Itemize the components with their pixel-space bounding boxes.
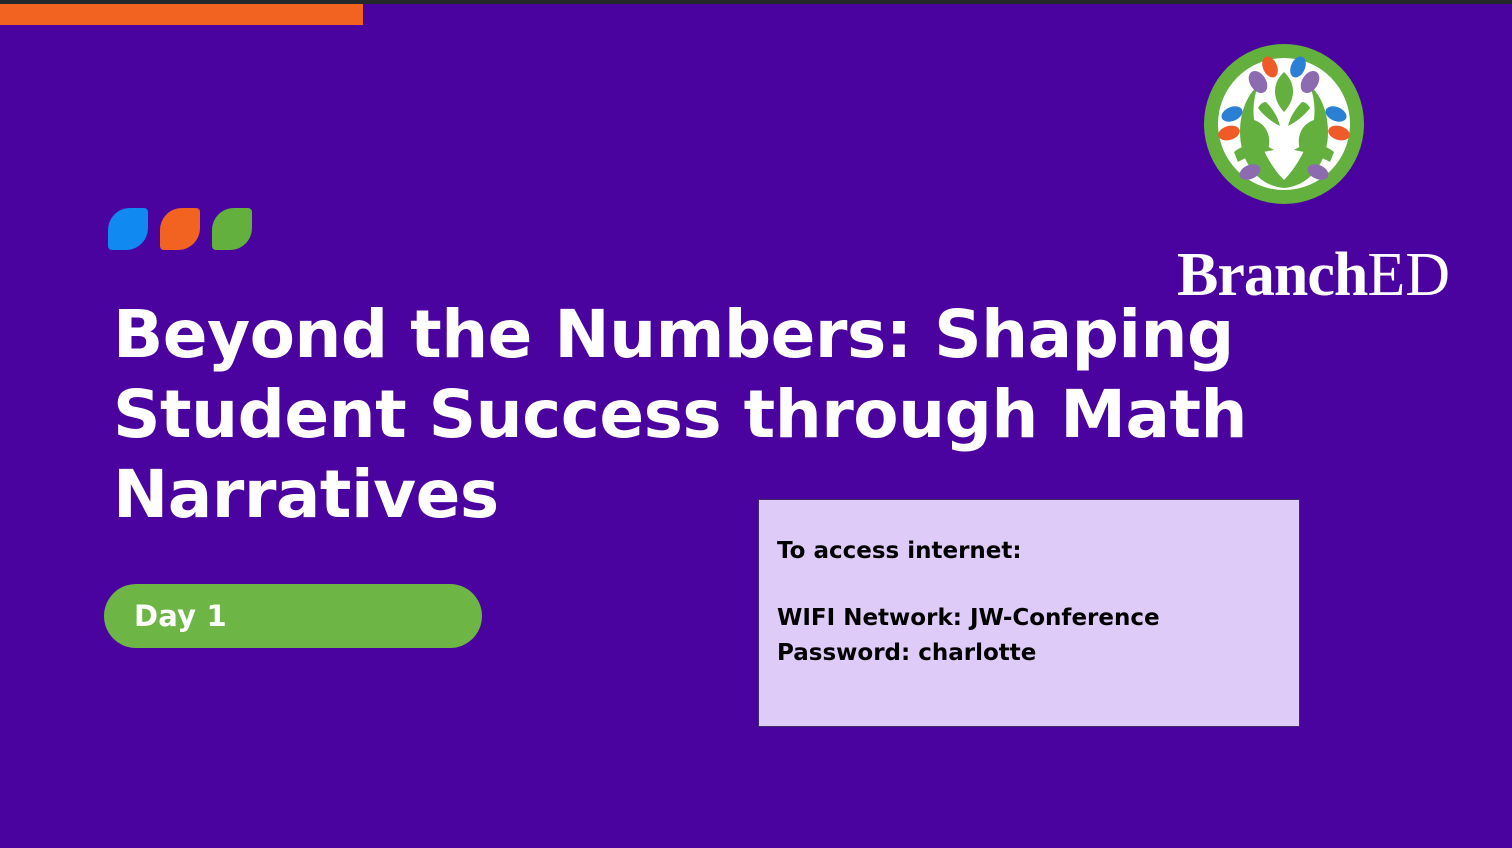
top-dark-strip [0,0,1512,4]
leaf-orange-icon [160,208,200,250]
day-badge: Day 1 [104,584,482,648]
wifi-info-text: To access internet: WIFI Network: JW-Con… [759,500,1299,671]
orange-accent-bar [0,4,363,25]
leaf-green-icon [212,208,252,250]
wifi-info-panel: To access internet: WIFI Network: JW-Con… [758,499,1300,727]
wifi-password-line: Password: charlotte [777,636,1299,671]
wifi-network-line: WIFI Network: JW-Conference [777,601,1299,636]
leaf-accent-group [108,208,258,254]
presentation-slide: BranchED Beyond the Numbers: Shaping Stu… [0,0,1512,848]
wifi-spacer [777,569,1299,601]
wordmark-ed-text: ED [1367,241,1450,309]
wifi-heading: To access internet: [777,534,1299,569]
tree-in-circle-icon [1196,36,1372,212]
branded-logo: BranchED [1100,36,1450,276]
leaf-blue-icon [108,208,148,250]
day-badge-label: Day 1 [104,599,227,633]
